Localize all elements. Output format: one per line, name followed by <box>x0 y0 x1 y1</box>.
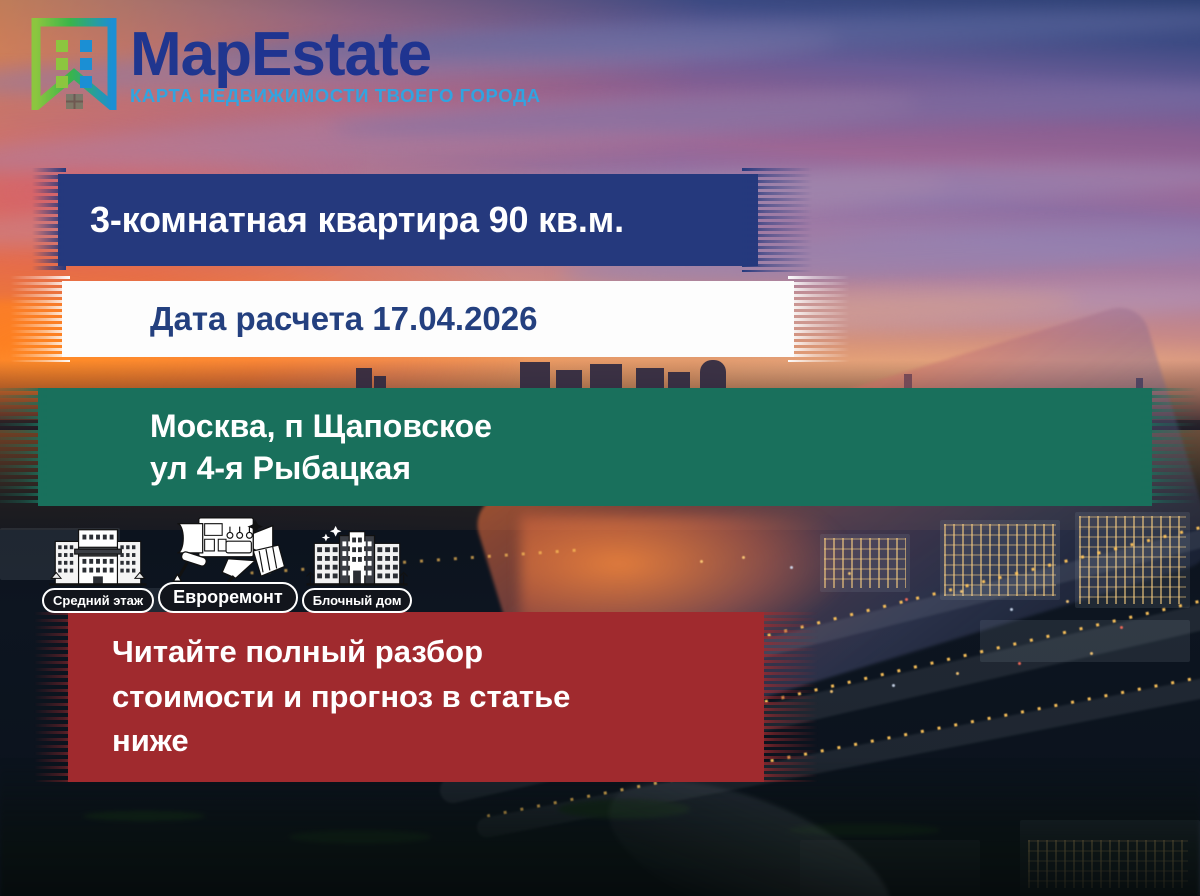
cta-text: Читайте полный разбор стоимости и прогно… <box>68 630 768 765</box>
calculation-date: Дата расчета 17.04.2026 <box>54 300 804 338</box>
address-line-1: Москва, п Щаповское <box>150 405 1158 447</box>
cta-line-3: ниже <box>112 719 768 764</box>
bookmark-building-icon <box>30 18 118 110</box>
address-text: Москва, п Щаповское ул 4-я Рыбацкая <box>28 405 1158 489</box>
badge-label: Евроремонт <box>158 582 298 613</box>
address-line-2: ул 4-я Рыбацкая <box>150 447 1158 489</box>
calculation-date-band: Дата расчета 17.04.2026 <box>54 276 804 362</box>
badge-label: Средний этаж <box>42 588 154 613</box>
badge-middle-floor[interactable]: Средний этаж <box>42 522 154 613</box>
mid-rise-buildings-icon <box>48 522 148 590</box>
brand-logo[interactable]: MapEstate КАРТА НЕДВИЖИМОСТИ ТВОЕГО ГОРО… <box>30 18 541 110</box>
promo-card: MapEstate КАРТА НЕДВИЖИМОСТИ ТВОЕГО ГОРО… <box>0 0 1200 896</box>
cta-line-2: стоимости и прогноз в статье <box>112 675 768 720</box>
brand-word-estate: Estate <box>251 20 431 89</box>
feature-badges: Средний этаж <box>42 512 412 613</box>
city-block-windows <box>824 538 906 588</box>
property-title-band: 3-комнатная квартира 90 кв.м. <box>58 168 758 272</box>
cta-line-1: Читайте полный разбор <box>112 630 768 675</box>
brand-word-map: Map <box>130 20 251 89</box>
badge-euro-renovation[interactable]: Евроремонт <box>158 512 298 613</box>
block-house-icon <box>305 522 409 590</box>
property-title: 3-комнатная квартира 90 кв.м. <box>58 199 758 241</box>
cta-band: Читайте полный разбор стоимости и прогно… <box>68 612 768 782</box>
brand-wordmark: MapEstate <box>130 26 541 83</box>
badge-block-house[interactable]: Блочный дом <box>302 522 413 613</box>
brand-tagline: КАРТА НЕДВИЖИМОСТИ ТВОЕГО ГОРОДА <box>130 85 541 107</box>
renovation-tools-icon <box>168 512 288 584</box>
address-band: Москва, п Щаповское ул 4-я Рыбацкая <box>28 388 1158 506</box>
badge-label: Блочный дом <box>302 588 413 613</box>
